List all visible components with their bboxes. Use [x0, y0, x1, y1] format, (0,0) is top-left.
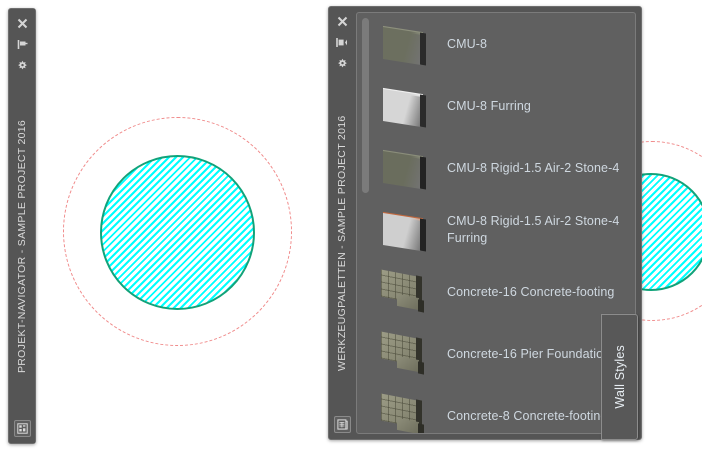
tool-list-item-label: CMU-8 Furring	[447, 98, 531, 115]
palette-tab-label: Wall Styles	[613, 345, 627, 409]
tool-list-item-label: Concrete-16 Pier Foundation	[447, 346, 610, 363]
tool-list-item[interactable]: Concrete-8 Concrete-footing	[375, 385, 635, 433]
properties-icon[interactable]	[15, 58, 29, 72]
wall-style-thumbnail-icon	[379, 21, 433, 67]
tool-list-item-label: CMU-8	[447, 36, 487, 53]
auto-hide-icon[interactable]	[15, 37, 29, 51]
close-icon[interactable]	[335, 14, 349, 28]
properties-icon[interactable]	[335, 56, 349, 70]
tool-list-item[interactable]: CMU-8 Rigid-1.5 Air-2 Stone-4 Furring	[375, 199, 635, 261]
footing-style-thumbnail-icon	[379, 393, 433, 433]
project-navigator-title: PROJEKT-NAVIGATOR - SAMPLE PROJECT 2016	[16, 72, 28, 420]
tool-palette-body: CMU-8CMU-8 FurringCMU-8 Rigid-1.5 Air-2 …	[356, 12, 636, 434]
tool-list-item-label: CMU-8 Rigid-1.5 Air-2 Stone-4	[447, 160, 619, 177]
close-icon[interactable]	[15, 16, 29, 30]
project-navigator-icon[interactable]	[14, 420, 31, 437]
wall-style-thumbnail-icon	[379, 207, 433, 253]
tool-palettes-icon[interactable]	[334, 416, 351, 433]
tool-list-item[interactable]: Concrete-16 Concrete-footing	[375, 261, 635, 323]
palette-tab-wall-styles[interactable]: Wall Styles	[601, 314, 638, 440]
tool-list-item[interactable]: Concrete-16 Pier Foundation	[375, 323, 635, 385]
auto-hide-icon[interactable]	[335, 35, 349, 49]
project-navigator-title-icons	[15, 16, 29, 72]
tool-list: CMU-8CMU-8 FurringCMU-8 Rigid-1.5 Air-2 …	[375, 13, 635, 433]
project-navigator-panel[interactable]: PROJEKT-NAVIGATOR - SAMPLE PROJECT 2016	[8, 8, 36, 444]
footing-style-thumbnail-icon	[379, 331, 433, 377]
tool-palettes-title: WERKZEUGPALETTEN - SAMPLE PROJECT 2016	[336, 70, 348, 416]
project-navigator-titlebar: PROJEKT-NAVIGATOR - SAMPLE PROJECT 2016	[9, 9, 35, 443]
tool-list-item-label: Concrete-16 Concrete-footing	[447, 284, 614, 301]
tool-palettes-panel[interactable]: WERKZEUGPALETTEN - SAMPLE PROJECT 2016 C…	[328, 6, 642, 440]
hatched-circle-main[interactable]	[100, 155, 255, 310]
screen: Door StylesFurniturePlumbingWall Styles	[0, 0, 702, 451]
tool-list-item[interactable]: CMU-8 Rigid-1.5 Air-2 Stone-4	[375, 137, 635, 199]
tool-palettes-titlebar: WERKZEUGPALETTEN - SAMPLE PROJECT 2016	[329, 7, 355, 439]
wall-style-thumbnail-icon	[379, 83, 433, 129]
palette-scrollbar-thumb[interactable]	[362, 18, 369, 193]
tool-list-item[interactable]: CMU-8 Furring	[375, 75, 635, 137]
footing-style-thumbnail-icon	[379, 269, 433, 315]
tool-list-item[interactable]: CMU-8	[375, 13, 635, 75]
tool-list-item-label: CMU-8 Rigid-1.5 Air-2 Stone-4 Furring	[447, 213, 627, 247]
tool-palettes-title-icons	[335, 14, 349, 70]
tool-list-item-label: Concrete-8 Concrete-footing	[447, 408, 607, 425]
wall-style-thumbnail-icon	[379, 145, 433, 191]
